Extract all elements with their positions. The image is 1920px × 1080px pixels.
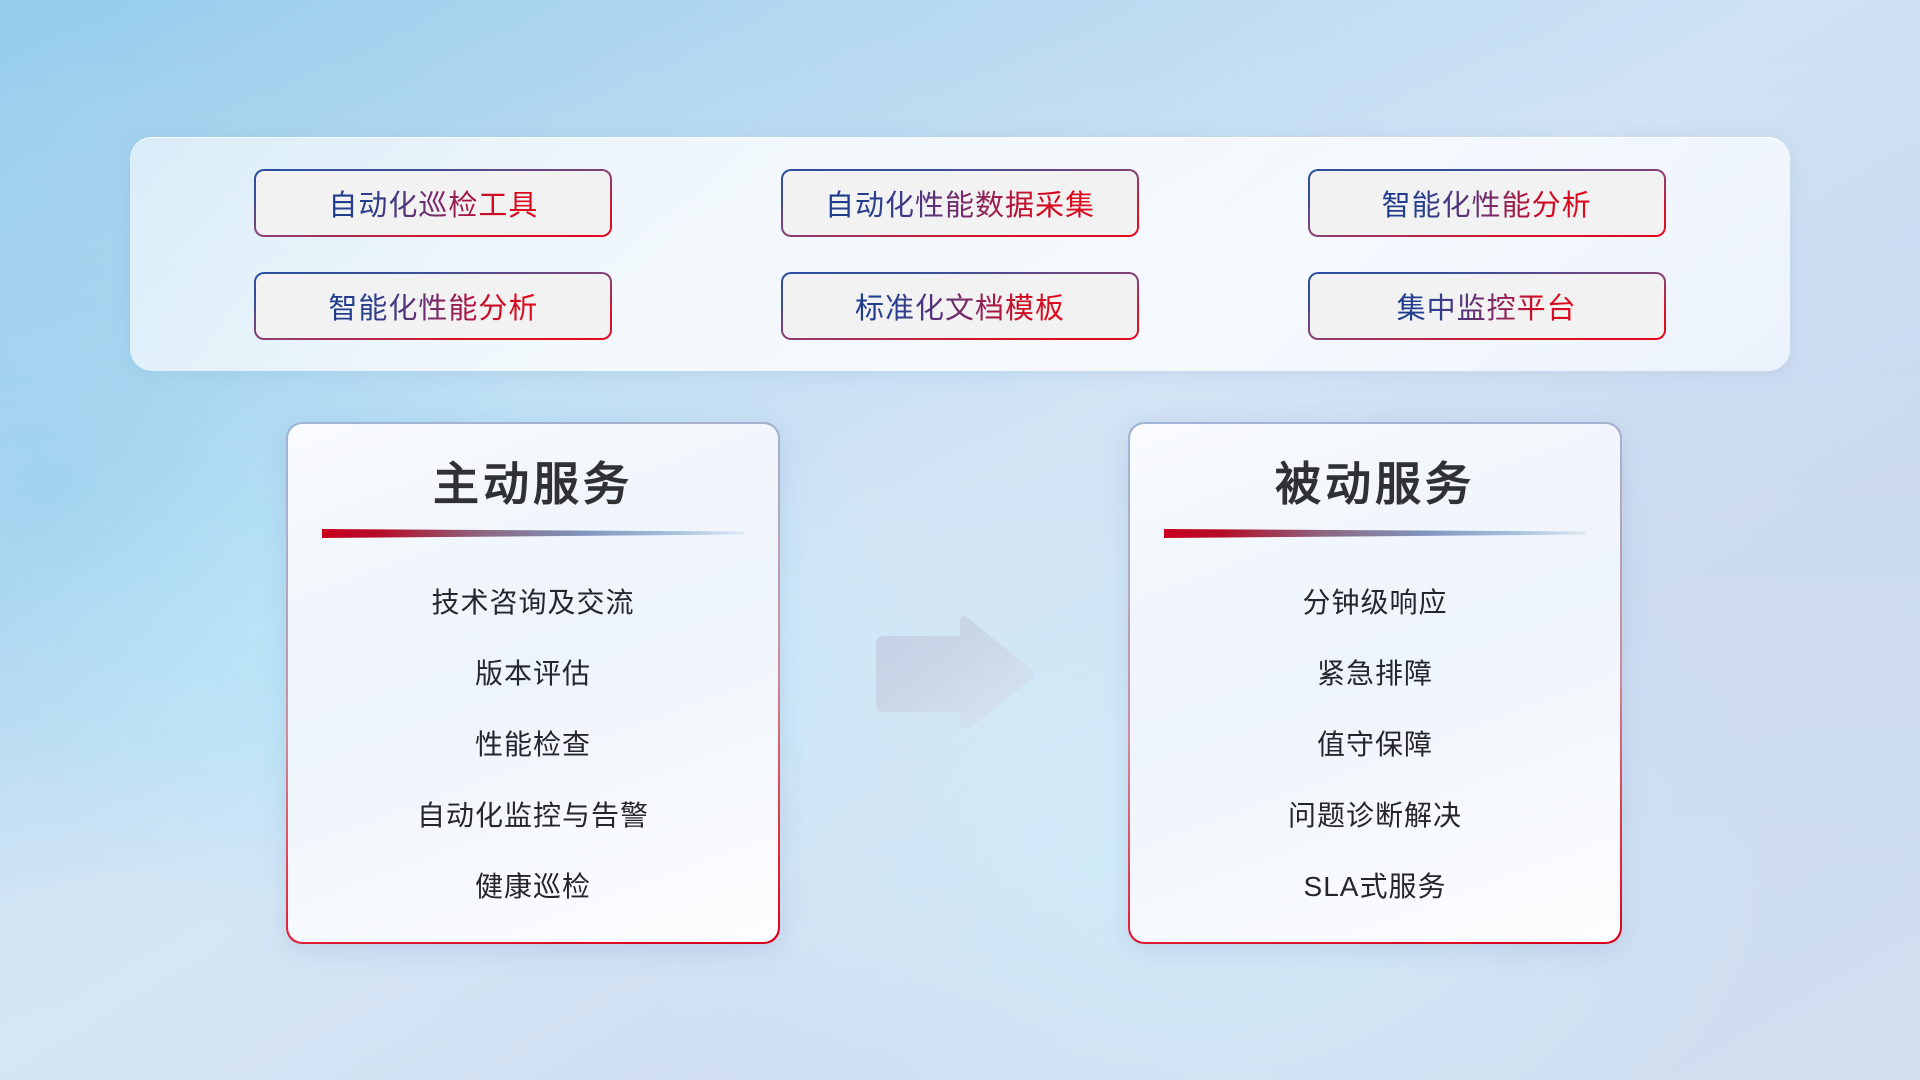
- capability-pill-inner: 自动化巡检工具: [256, 171, 610, 235]
- service-item-list: 技术咨询及交流 版本评估 性能检查 自动化监控与告警 健康巡检: [322, 566, 745, 921]
- capability-pill-label: 智能化性能分析: [1382, 182, 1592, 224]
- capability-pill[interactable]: 自动化巡检工具: [254, 169, 612, 237]
- service-item: 健康巡检: [322, 849, 745, 920]
- capability-pill-inner: 智能化性能分析: [256, 274, 610, 338]
- service-item: 问题诊断解决: [1164, 779, 1587, 850]
- capability-pill-label: 智能化性能分析: [328, 285, 538, 327]
- capability-pill[interactable]: 自动化性能数据采集: [781, 169, 1139, 237]
- service-item: 版本评估: [322, 637, 745, 708]
- capability-pill-label: 自动化性能数据采集: [825, 182, 1095, 224]
- capability-pill-inner: 集中监控平台: [1310, 274, 1664, 338]
- capabilities-panel: 自动化巡检工具 自动化性能数据采集 智能化性能分析 智能化性能分析 标准化文档模…: [130, 137, 1790, 371]
- service-card-reactive: 被动服务 分钟级响应 紧急排障 值守保障: [1128, 422, 1622, 944]
- service-item: 紧急排障: [1164, 637, 1587, 708]
- service-item: SLA式服务: [1164, 849, 1587, 920]
- capability-pill[interactable]: 智能化性能分析: [254, 272, 612, 340]
- capability-pill-label: 集中监控平台: [1397, 285, 1577, 327]
- card-divider-icon: [1164, 526, 1587, 540]
- card-title: 主动服务: [433, 456, 633, 512]
- capability-pill-label: 自动化巡检工具: [328, 182, 538, 224]
- service-item: 性能检查: [322, 708, 745, 779]
- card-divider-icon: [322, 526, 745, 540]
- service-item: 技术咨询及交流: [322, 566, 745, 637]
- service-card-inner: 主动服务 技术咨询及交流 版本评估 性能检查: [288, 424, 779, 943]
- card-title: 被动服务: [1275, 456, 1475, 512]
- capability-pill[interactable]: 智能化性能分析: [1308, 169, 1666, 237]
- slide-canvas: 自动化巡检工具 自动化性能数据采集 智能化性能分析 智能化性能分析 标准化文档模…: [0, 0, 1920, 1080]
- service-item: 分钟级响应: [1164, 566, 1587, 637]
- right-arrow-icon: [862, 610, 1040, 728]
- capability-pill-inner: 标准化文档模板: [783, 274, 1137, 338]
- capability-pill[interactable]: 集中监控平台: [1308, 272, 1666, 340]
- service-item-list: 分钟级响应 紧急排障 值守保障 问题诊断解决 SLA式服务: [1164, 566, 1587, 921]
- service-item: 值守保障: [1164, 708, 1587, 779]
- capability-pill-inner: 自动化性能数据采集: [783, 171, 1137, 235]
- service-card-proactive: 主动服务 技术咨询及交流 版本评估 性能检查: [286, 422, 780, 944]
- capability-pill-inner: 智能化性能分析: [1310, 171, 1664, 235]
- service-card-inner: 被动服务 分钟级响应 紧急排障 值守保障: [1130, 424, 1621, 943]
- service-item: 自动化监控与告警: [322, 779, 745, 850]
- capability-pill[interactable]: 标准化文档模板: [781, 272, 1139, 340]
- capability-pill-label: 标准化文档模板: [855, 285, 1065, 327]
